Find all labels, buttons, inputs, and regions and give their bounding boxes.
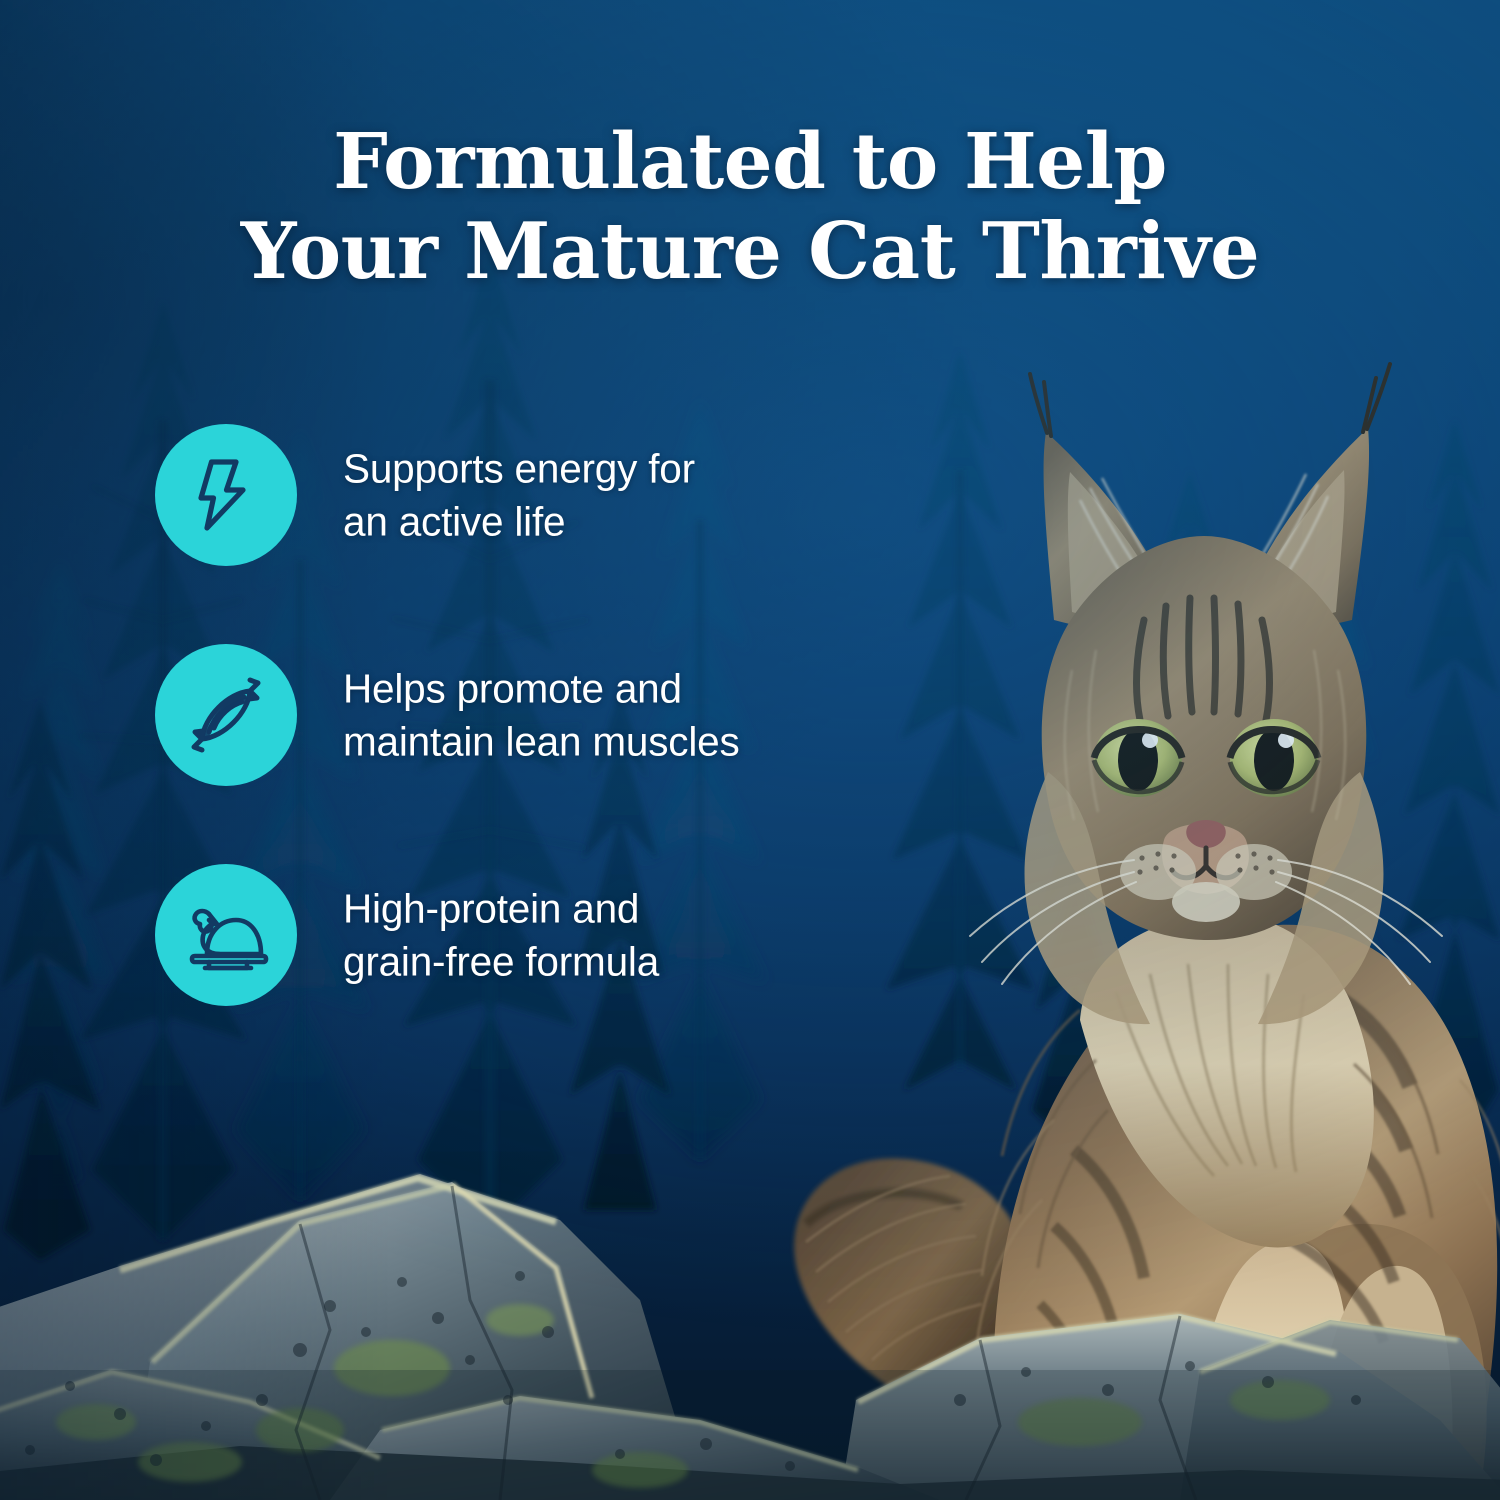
lightning-bolt-icon bbox=[183, 452, 269, 538]
benefit-item-energy: Supports energy for an active life bbox=[155, 424, 875, 566]
benefit-icon-badge-muscle bbox=[155, 644, 297, 786]
benefit-item-protein: High-protein and grain-free formula bbox=[155, 864, 875, 1006]
headline-line-2: Your Mature Cat Thrive bbox=[90, 207, 1410, 297]
promo-banner: Formulated to Help Your Mature Cat Thriv… bbox=[0, 0, 1500, 1500]
benefit-icon-badge-energy bbox=[155, 424, 297, 566]
muscle-fiber-icon bbox=[182, 671, 270, 759]
page-title: Formulated to Help Your Mature Cat Thriv… bbox=[0, 118, 1500, 298]
headline-line-1: Formulated to Help bbox=[90, 118, 1410, 207]
benefits-list: Supports energy for an active life bbox=[155, 424, 875, 1006]
benefit-item-muscle: Helps promote and maintain lean muscles bbox=[155, 644, 875, 786]
benefit-text-energy: Supports energy for an active life bbox=[343, 442, 695, 547]
benefit-icon-badge-protein bbox=[155, 864, 297, 1006]
benefit-text-protein: High-protein and grain-free formula bbox=[343, 882, 659, 987]
roast-poultry-platter-icon bbox=[181, 890, 271, 980]
benefit-text-muscle: Helps promote and maintain lean muscles bbox=[343, 662, 740, 767]
